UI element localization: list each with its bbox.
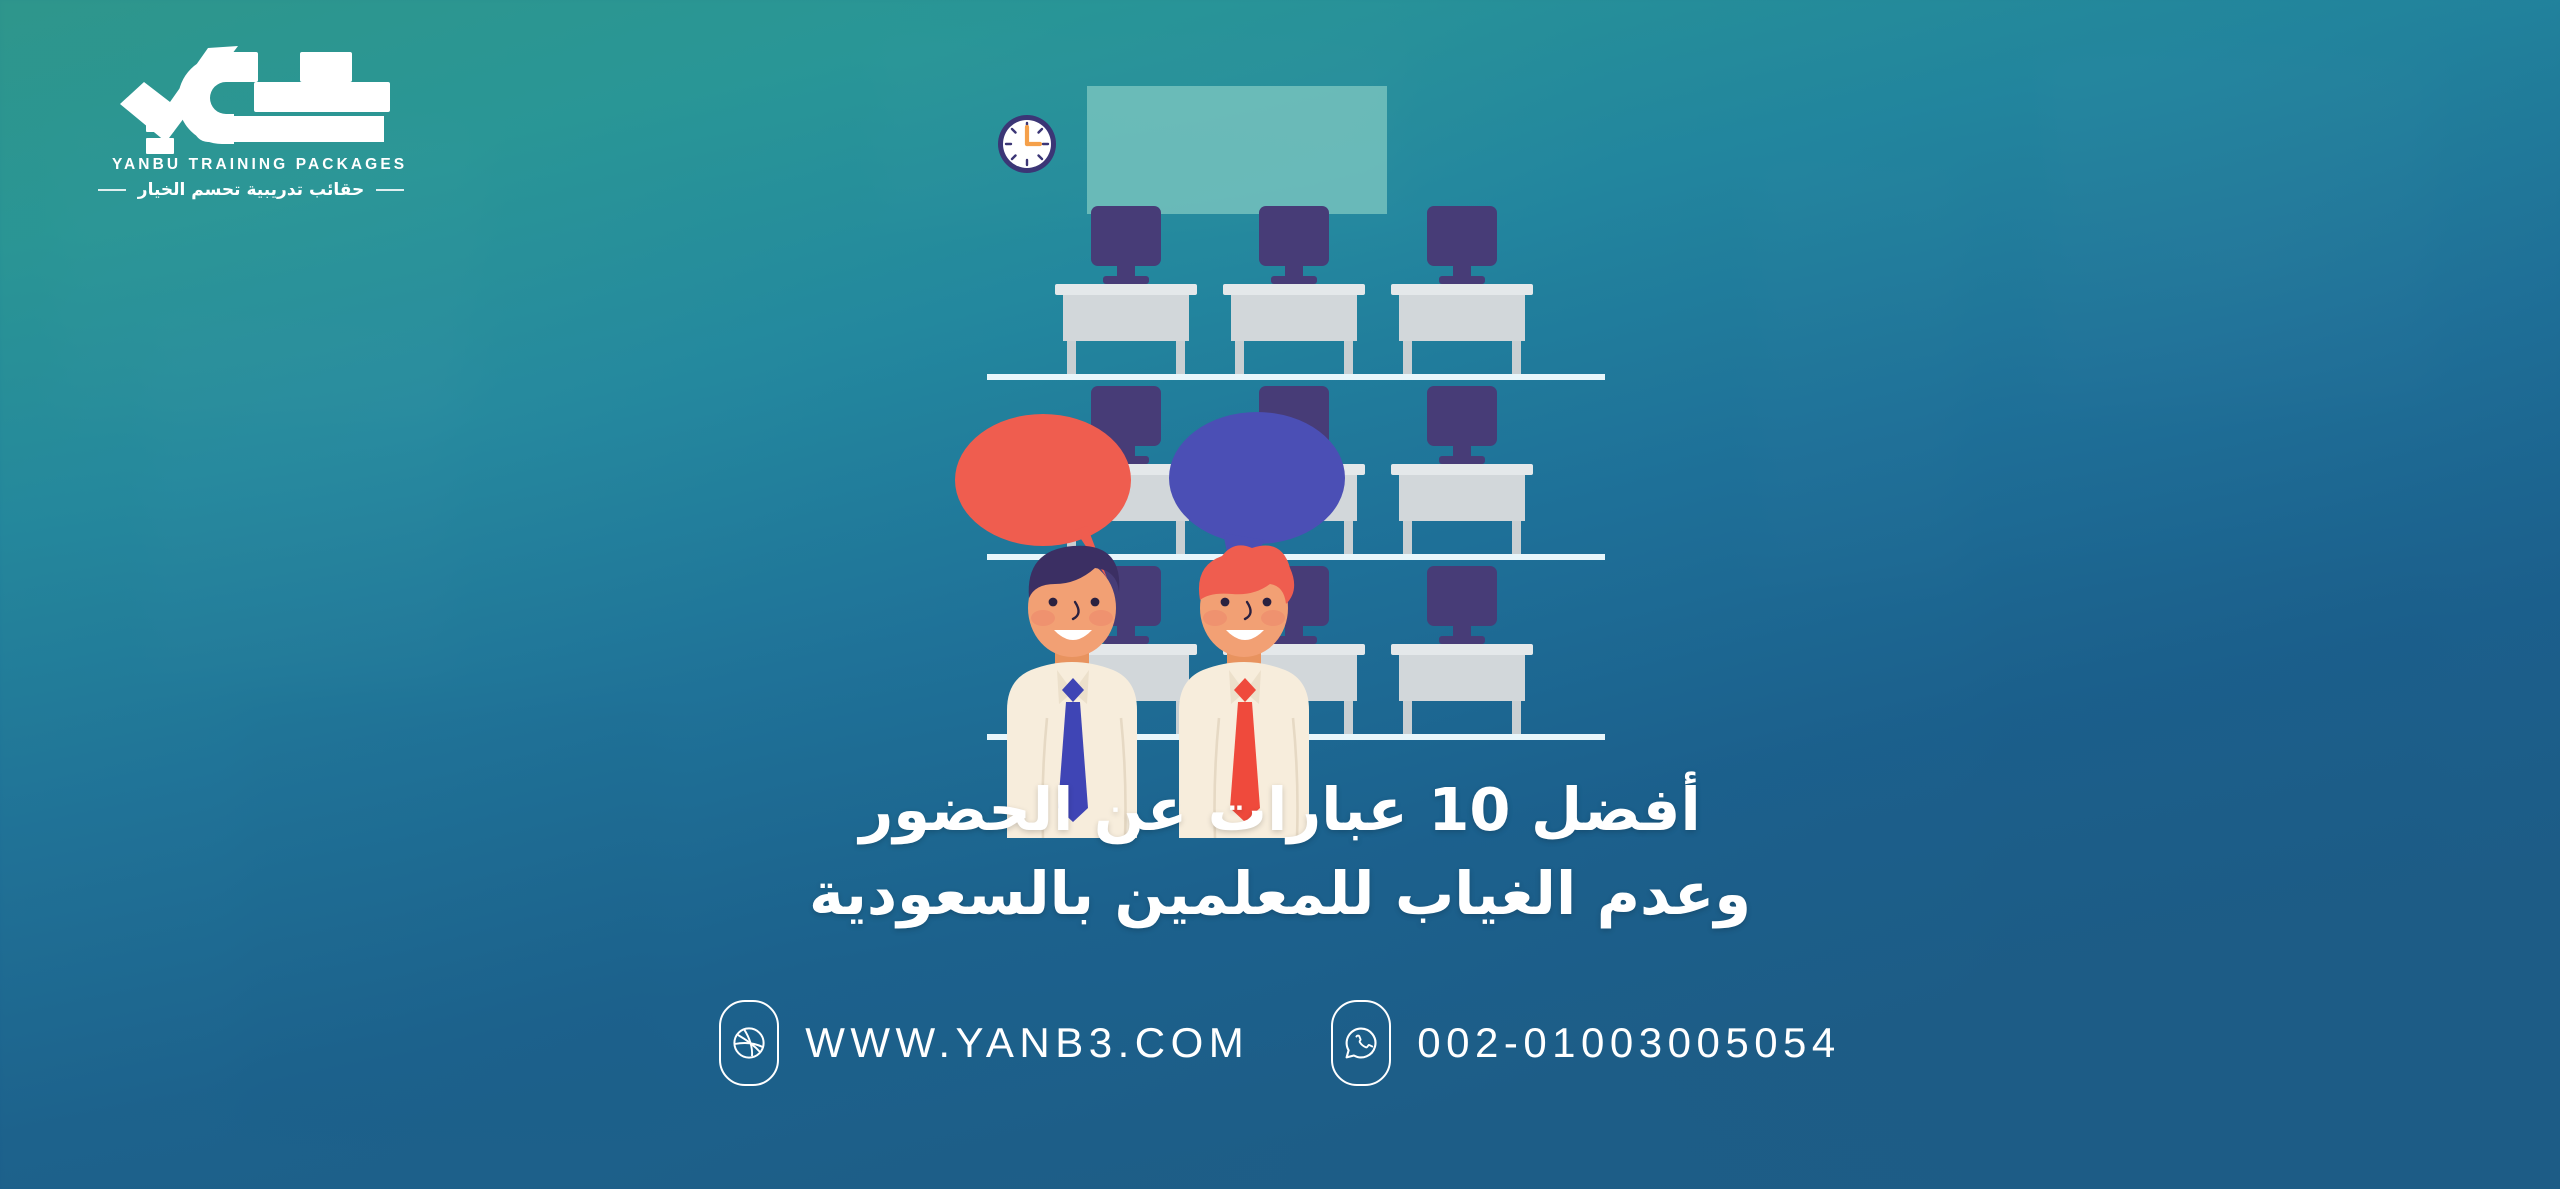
whatsapp-link[interactable]: 002-01003005054 — [1331, 1000, 1841, 1086]
classroom-illustration-svg — [935, 78, 1645, 738]
brand-logo[interactable]: YANBU TRAINING PACKAGES حقائب تدريبية تح… — [74, 38, 404, 200]
logo-english-name: YANBU TRAINING PACKAGES — [74, 156, 404, 174]
headline-line-1: أفضل 10 عبارات عن الحضور — [0, 768, 2560, 852]
headline-line-2: وعدم الغياب للمعلمين بالسعودية — [0, 852, 2560, 936]
tagline-dash-right — [98, 189, 126, 191]
classroom-whiteboard — [1087, 86, 1387, 214]
dribbble-globe-icon — [719, 1000, 779, 1086]
yanbu-wordmark-icon — [104, 38, 404, 158]
tagline-dash-left — [376, 189, 404, 191]
desk-row-1 — [1055, 206, 1533, 377]
promo-banner: YANBU TRAINING PACKAGES حقائب تدريبية تح… — [0, 0, 2560, 1189]
logo-arabic-tagline: حقائب تدريبية تحسم الخيار — [138, 180, 364, 200]
website-text: WWW.YANB3.COM — [805, 1019, 1249, 1067]
floor-line-1 — [987, 374, 1605, 380]
whatsapp-icon — [1331, 1000, 1391, 1086]
website-link[interactable]: WWW.YANB3.COM — [719, 1000, 1249, 1086]
phone-text: 002-01003005054 — [1417, 1019, 1841, 1067]
page-title: أفضل 10 عبارات عن الحضور وعدم الغياب للم… — [0, 768, 2560, 936]
classroom-illustration — [935, 78, 1645, 738]
contact-bar: WWW.YANB3.COM 002-01003005054 — [0, 1000, 2560, 1086]
logo-tagline-row: حقائب تدريبية تحسم الخيار — [74, 180, 404, 200]
wall-clock-icon — [998, 115, 1056, 173]
